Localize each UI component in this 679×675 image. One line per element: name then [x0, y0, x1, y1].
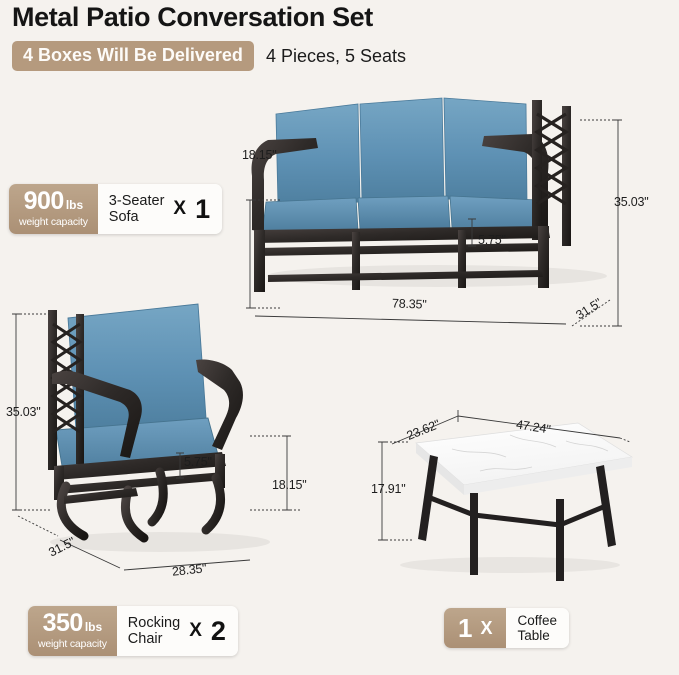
- table-height-label: 17.91": [371, 482, 406, 496]
- chair-name-line2: Chair: [128, 631, 180, 647]
- sofa-product-count: 3-Seater Sofa X 1: [98, 184, 222, 234]
- sofa-product-name: 3-Seater Sofa: [109, 193, 165, 225]
- chair-multiplier: X: [189, 620, 202, 642]
- table-product-count: Coffee Table: [506, 608, 569, 648]
- chair-name-line1: Rocking: [128, 615, 180, 631]
- sofa-name-line2: Sofa: [109, 209, 165, 225]
- chair-capacity-value: 350: [43, 611, 83, 636]
- page-title: Metal Patio Conversation Set: [12, 2, 373, 33]
- chair-quantity: 2: [211, 618, 226, 645]
- chair-cushion-thickness-label: 5.75": [184, 455, 212, 469]
- boxes-delivered-badge: 4 Boxes Will Be Delivered: [12, 41, 254, 71]
- infographic-page: Metal Patio Conversation Set 4 Boxes Wil…: [0, 0, 679, 675]
- sofa-quantity: 1: [195, 196, 210, 223]
- sofa-capacity-value: 900: [24, 189, 64, 214]
- chair-product-count: Rocking Chair X 2: [117, 606, 238, 656]
- chair-total-height-label: 35.03": [6, 405, 41, 419]
- chair-product-name: Rocking Chair: [128, 615, 180, 647]
- chair-capacity-unit: lbs: [85, 620, 102, 634]
- sofa-width-label: 78.35": [392, 296, 427, 311]
- table-multiplier: X: [480, 618, 492, 639]
- chair-seat-height-label: 18.15": [272, 478, 307, 492]
- sofa-capacity-label: weight capacity: [19, 216, 88, 228]
- sofa-cushion-thickness-label: 5.75": [478, 233, 506, 247]
- pieces-seats-text: 4 Pieces, 5 Seats: [266, 46, 406, 67]
- chair-dimension-lines: [0, 288, 340, 588]
- sofa-seat-height-label: 18.15": [242, 148, 277, 162]
- sofa-weight-capacity: 900 lbs weight capacity: [9, 184, 98, 234]
- sofa-total-height-label: 35.03": [614, 195, 649, 209]
- table-quantity: 1: [458, 615, 472, 641]
- table-count-badge: 1 X Coffee Table: [444, 608, 569, 648]
- header-subrow: 4 Boxes Will Be Delivered 4 Pieces, 5 Se…: [12, 41, 406, 71]
- chair-capacity-label: weight capacity: [38, 638, 107, 650]
- table-product-name: Coffee Table: [517, 613, 557, 643]
- table-name-line2: Table: [517, 628, 557, 643]
- sofa-name-line1: 3-Seater: [109, 193, 165, 209]
- chair-weight-capacity: 350 lbs weight capacity: [28, 606, 117, 656]
- table-quantity-block: 1 X: [444, 608, 506, 648]
- table-name-line1: Coffee: [517, 613, 557, 628]
- chair-capacity-badge: 350 lbs weight capacity Rocking Chair X …: [28, 606, 238, 656]
- sofa-multiplier: X: [173, 198, 186, 220]
- sofa-capacity-unit: lbs: [66, 198, 83, 212]
- sofa-capacity-badge: 900 lbs weight capacity 3-Seater Sofa X …: [9, 184, 222, 234]
